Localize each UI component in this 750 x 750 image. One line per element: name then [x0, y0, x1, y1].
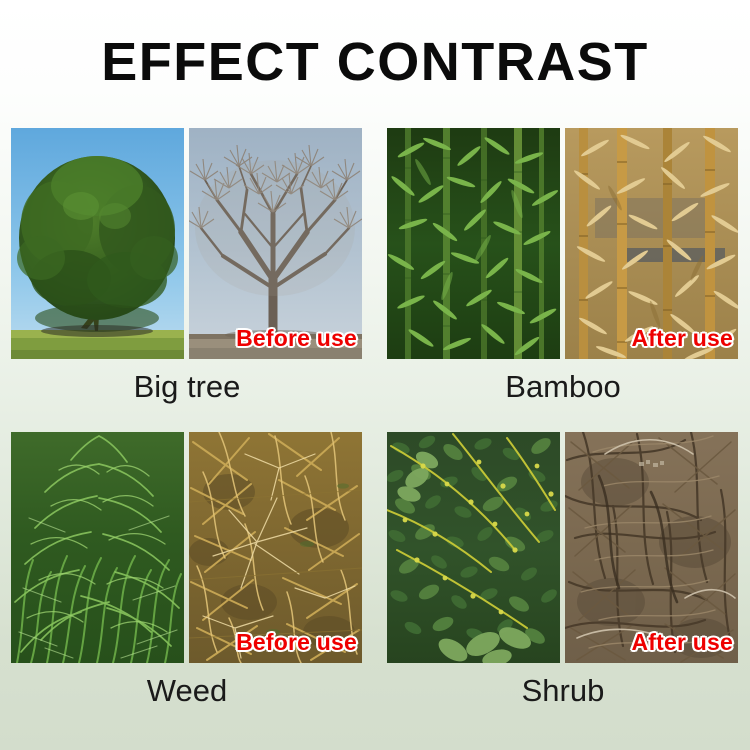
comparison-cell-bamboo[interactable]: After use Bamboo [387, 128, 739, 430]
caption-shrub: Shrub [387, 672, 739, 710]
comparison-cell-weed[interactable]: Before use Weed [11, 432, 363, 734]
photo-dead-tree: Before use [189, 128, 362, 359]
caption-bamboo: Bamboo [387, 368, 739, 406]
before-after-pair: Before use [11, 128, 363, 359]
caption-big-tree: Big tree [11, 368, 363, 406]
comparison-grid: Before use Big tree [0, 128, 750, 738]
photo-green-bamboo [387, 128, 560, 359]
status-badge-before: Before use [236, 325, 357, 352]
status-badge-before: Before use [236, 629, 357, 656]
comparison-cell-shrub[interactable]: After use Shrub [387, 432, 739, 734]
photo-green-weed [11, 432, 184, 663]
before-after-pair: Before use [11, 432, 363, 663]
photo-dead-shrub: After use [565, 432, 738, 663]
before-after-pair: After use [387, 432, 739, 663]
comparison-cell-big-tree[interactable]: Before use Big tree [11, 128, 363, 430]
page-title: EFFECT CONTRAST [0, 33, 750, 91]
status-badge-after: After use [632, 325, 734, 352]
status-badge-after: After use [632, 629, 734, 656]
photo-dead-weed: Before use [189, 432, 362, 663]
photo-healthy-tree [11, 128, 184, 359]
caption-weed: Weed [11, 672, 363, 710]
photo-withered-bamboo: After use [565, 128, 738, 359]
photo-green-shrub [387, 432, 560, 663]
effect-contrast-poster: EFFECT CONTRAST [0, 0, 750, 750]
before-after-pair: After use [387, 128, 739, 359]
